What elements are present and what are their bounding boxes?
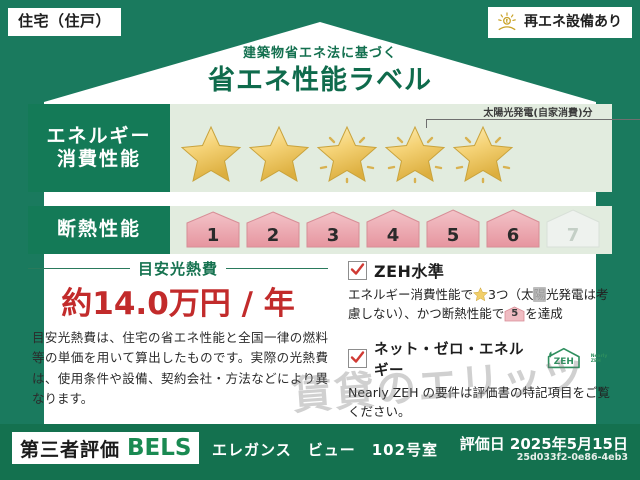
net-zero-heading: ネット・ゼロ・エネルギー ZEH Nearly ZEH — [348, 338, 616, 380]
insulation-level-6: 6 — [484, 209, 542, 251]
label-title: 省エネ性能ラベル — [0, 58, 640, 97]
bels-jp-label: 第三者評価 — [20, 435, 120, 462]
solar-generation-note: 太陽光発電(自家消費)分 — [422, 104, 640, 119]
zeh-body-pre: エネルギー消費性能で — [348, 287, 473, 302]
renewable-equipment-badge: E 再エネ設備あり — [488, 7, 632, 38]
estimated-cost-value: 約14.0万円 / 年 — [28, 278, 328, 323]
net-zero-body: Nearly ZEH の要件は評価書の特記項目をご覧ください。 — [348, 383, 616, 422]
footer-bar: 第三者評価 BELS エレガンス ビュー 102号室 評価日 2025年5月15… — [0, 424, 640, 480]
insulation-level-3-value: 3 — [304, 225, 362, 246]
housing-type-tag: 住宅（住戸） — [8, 8, 121, 36]
zeh-logo-sublabel: Nearly ZEH — [591, 354, 616, 364]
insulation-level-5-value: 5 — [424, 225, 482, 246]
insulation-level-6-value: 6 — [484, 225, 542, 246]
inline-level-value: 5 — [504, 306, 525, 322]
cost-description: 目安光熱費は、住宅の省エネ性能と全国一律の燃料等の単価を用いて算出したものです。… — [32, 328, 328, 409]
star-filled-5-solar — [452, 124, 514, 184]
star-filled-1 — [180, 124, 242, 184]
svg-text:E: E — [506, 19, 509, 24]
star-filled-4-solar — [384, 124, 446, 184]
cost-rule-left — [28, 268, 130, 269]
evaluation-id: 25d033f2-0e86-4eb3 — [517, 452, 628, 463]
insulation-level-7: 7 — [544, 209, 602, 251]
inline-insulation-level-badge: 5 — [504, 306, 525, 322]
net-zero-title: ネット・ゼロ・エネルギー — [374, 338, 535, 380]
energy-performance-label: 住宅（住戸） E 再エネ設備あり 建築物省エネ法に基づく 省エネ性能ラベル — [0, 0, 640, 480]
zeh-body-mid: 3つ（太 — [488, 287, 533, 302]
energy-label-line1: エネルギー — [46, 125, 151, 148]
property-name: エレガンス ビュー 102号室 — [212, 439, 438, 460]
insulation-level-2: 2 — [244, 209, 302, 251]
zeh-standard-title: ZEH水準 — [374, 258, 444, 282]
check-icon — [350, 262, 365, 277]
insulation-level-4: 4 — [364, 209, 422, 251]
insulation-performance-row: 断熱性能 1 2 3 4 5 — [28, 206, 612, 254]
insulation-level-1-value: 1 — [184, 225, 242, 246]
star-filled-2 — [248, 124, 310, 184]
zeh-standard-heading: ZEH水準 — [348, 258, 616, 282]
energy-performance-row: エネルギー 消費性能 太陽光発電(自家消費)分 — [28, 104, 612, 192]
inline-star-icon — [473, 287, 488, 302]
zeh-house-logo-icon: ZEH — [545, 346, 583, 372]
energy-label-line2: 消費性能 — [57, 148, 141, 171]
svg-text:ZEH: ZEH — [554, 357, 574, 367]
zeh-standard-body: エネルギー消費性能で3つ（太陽光発電は考慮しない）、かつ断熱性能で5を達成 — [348, 285, 616, 324]
star-filled-3-solar — [316, 124, 378, 184]
insulation-level-scale: 1 2 3 4 5 6 — [184, 209, 602, 251]
sun-icon: E — [496, 12, 518, 32]
evaluation-date: 評価日 2025年5月15日 — [460, 433, 628, 454]
cost-rule-right — [226, 268, 328, 269]
energy-performance-label-box: エネルギー 消費性能 — [28, 104, 170, 192]
cost-heading-label: 目安光熱費 — [138, 258, 218, 279]
insulation-level-4-value: 4 — [364, 225, 422, 246]
insulation-level-5: 5 — [424, 209, 482, 251]
insulation-performance-label-box: 断熱性能 — [28, 206, 170, 254]
energy-star-rating — [180, 124, 514, 184]
insulation-level-1: 1 — [184, 209, 242, 251]
check-icon — [350, 350, 365, 365]
cost-heading: 目安光熱費 — [28, 258, 328, 279]
insulation-level-7-value: 7 — [544, 225, 602, 246]
energy-stars-area: 太陽光発電(自家消費)分 — [170, 104, 612, 192]
insulation-level-2-value: 2 — [244, 225, 302, 246]
zeh-body-post: を達成 — [525, 306, 563, 321]
renewable-badge-label: 再エネ設備あり — [524, 15, 622, 29]
bels-certification-box: 第三者評価 BELS — [12, 432, 199, 464]
zeh-body-obscured-char: 陽 — [533, 287, 546, 302]
bels-en-label: BELS — [127, 435, 191, 461]
zeh-standard-checkbox — [348, 261, 367, 280]
insulation-level-3: 3 — [304, 209, 362, 251]
net-zero-checkbox — [348, 349, 367, 368]
zeh-section: ZEH水準 エネルギー消費性能で3つ（太陽光発電は考慮しない）、かつ断熱性能で5… — [348, 258, 616, 422]
